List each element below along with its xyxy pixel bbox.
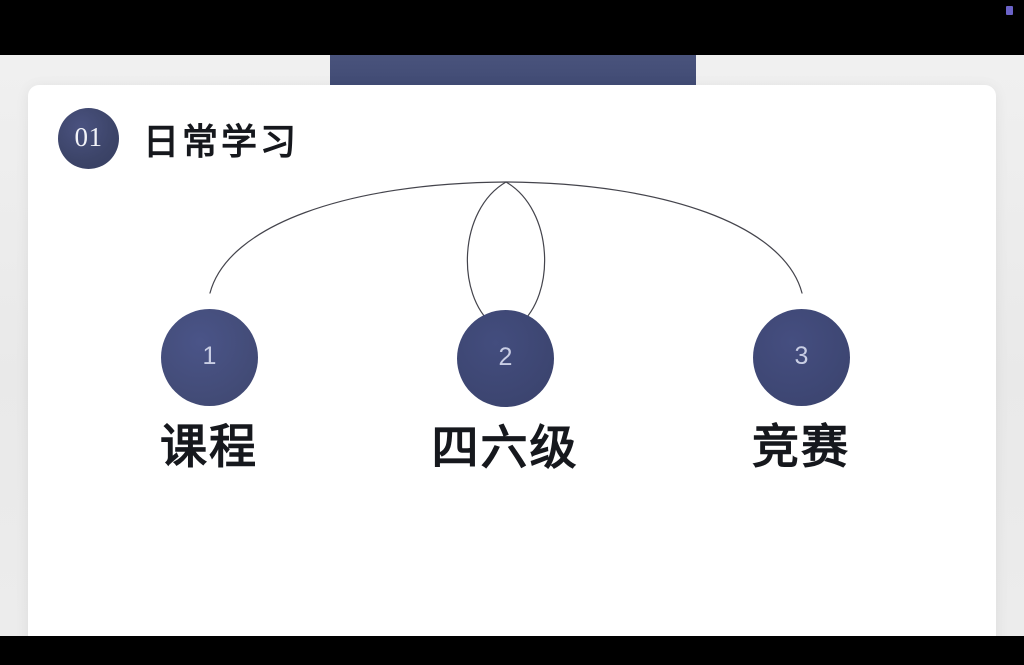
letterbox-bottom [0,636,1024,665]
diagram-node-1[interactable]: 1 [161,309,258,406]
diagram-node-3[interactable]: 3 [753,309,850,406]
diagram-node-2[interactable]: 2 [457,310,554,407]
node-label-2: 四六级 [385,426,625,473]
accent-bar-top [330,55,696,87]
section-number-badge: 01 [58,108,119,169]
node-label-3: 竞赛 [681,425,921,472]
slide-header: 01 日常学习 [58,108,299,169]
slide-card: 01 日常学习 1 2 3 课程 四六级 [28,85,996,636]
node-number-1: 1 [203,344,217,371]
video-viewport: 01 日常学习 1 2 3 课程 四六级 [0,0,1024,665]
node-number-3: 3 [795,344,809,371]
node-label-1: 课程 [89,425,329,472]
section-number-text: 01 [75,124,103,153]
letterbox-top [0,0,1024,55]
page-title: 日常学习 [143,113,299,165]
slide-stage: 01 日常学习 1 2 3 课程 四六级 [0,55,1024,636]
node-number-2: 2 [499,345,513,372]
recording-dot-icon [1006,6,1013,15]
